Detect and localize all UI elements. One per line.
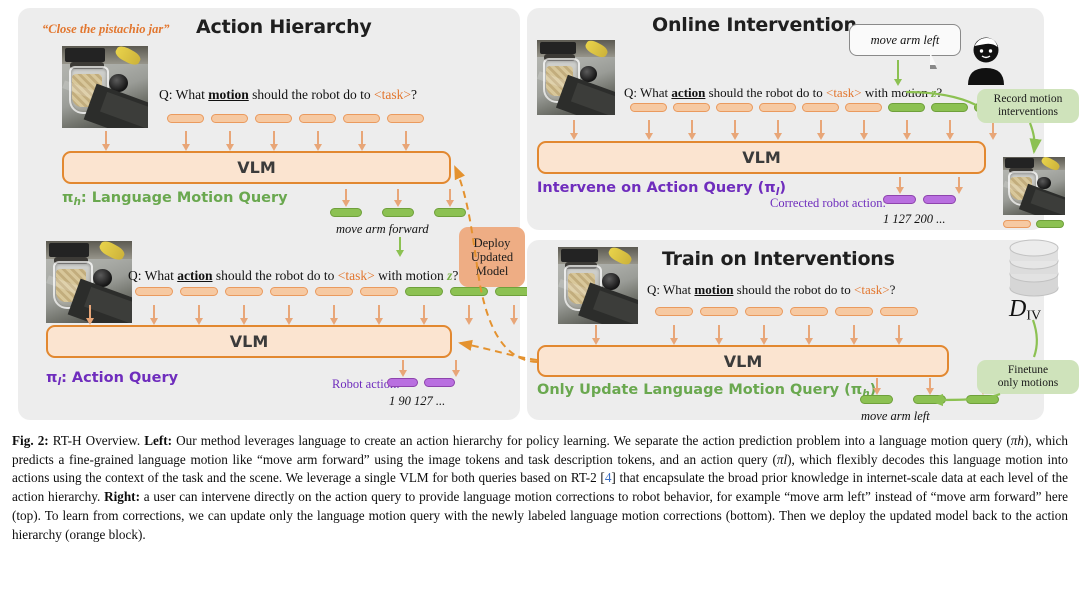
flow-arrow — [225, 305, 263, 325]
flow-arrow — [440, 360, 471, 377]
vlm-block-high: VLM — [62, 151, 451, 184]
query-train: Q: What motion should the robot do to <t… — [647, 282, 895, 298]
token-pill-orange — [180, 287, 218, 296]
query-middle2: with motion — [862, 85, 932, 100]
token-pill-orange — [1003, 220, 1031, 228]
flow-arrow — [845, 120, 882, 140]
token-pill-orange — [802, 103, 839, 112]
query-suffix: ? — [890, 282, 896, 297]
token-pill-purple — [424, 378, 455, 387]
query-task-token: <task> — [338, 268, 375, 283]
query-prefix: Q: What — [647, 282, 694, 297]
token-pill-green — [330, 208, 362, 217]
pi-subscript: h — [73, 196, 80, 208]
token-row-train — [655, 307, 918, 316]
caption-left-bold: Left: — [144, 433, 172, 448]
policy-online-close: ) — [779, 180, 786, 196]
token-pill-green — [931, 103, 968, 112]
motion-output-text: move arm forward — [336, 222, 429, 237]
arrow-row-motion-out — [330, 189, 466, 207]
arrow-row-action-out — [387, 360, 471, 377]
task-quote: “Close the pistachio jar” — [42, 22, 169, 37]
flow-arrow — [835, 325, 873, 345]
caption-pi-l: πl — [777, 452, 787, 467]
arrow-row-low-query — [135, 305, 533, 325]
token-pill-orange — [255, 114, 292, 123]
token-row-task — [167, 114, 424, 123]
flow-arrow — [655, 325, 693, 345]
token-row-motion-train — [860, 395, 999, 404]
flow-arrow — [888, 120, 925, 140]
token-pill-orange — [700, 307, 738, 316]
record-line-2: interventions — [994, 106, 1063, 119]
person-icon — [965, 35, 1007, 85]
figure-caption: Fig. 2: RT-H Overview. Left: Our method … — [12, 432, 1068, 544]
caption-pi-h: πh — [1011, 433, 1024, 448]
caption-right-bold: Right: — [104, 489, 140, 504]
query-task-token: <task> — [854, 282, 890, 297]
token-pill-green — [913, 395, 946, 404]
flow-arrow — [745, 325, 783, 345]
policy-label-online: Intervene on Action Query (πl) — [537, 180, 786, 198]
flow-arrow — [382, 189, 414, 207]
flow-arrow — [931, 120, 968, 140]
query-prefix: Q: What — [159, 87, 208, 102]
token-pill-purple — [387, 378, 418, 387]
dataset-subscript: IV — [1026, 309, 1041, 324]
flow-arrow — [450, 305, 488, 325]
query-keyword: action — [177, 268, 212, 283]
flow-arrow — [387, 360, 418, 377]
token-pill-green — [860, 395, 893, 404]
caption-lead: RT-H Overview. — [49, 433, 145, 448]
flow-arrow — [913, 378, 946, 395]
flow-arrow — [343, 131, 380, 151]
flow-arrow — [270, 305, 308, 325]
database-icon — [1006, 238, 1062, 300]
arrow-row-online — [630, 120, 1011, 140]
flow-arrow — [759, 120, 796, 140]
policy-online-text: Intervene on Action Query (π — [537, 180, 776, 196]
finetune-line-1: Finetune — [998, 364, 1058, 377]
token-pill-orange — [673, 103, 710, 112]
flow-arrow — [255, 131, 292, 151]
token-row-action — [387, 378, 455, 387]
query-suffix: ? — [452, 268, 458, 283]
scene-image-top-left — [62, 46, 148, 128]
arrow-row-corrected — [883, 177, 975, 194]
callout-deploy-updated-model: Deploy Updated Model — [459, 227, 525, 287]
policy-label-high: πh: Language Motion Query — [62, 190, 288, 208]
flow-arrow — [802, 120, 839, 140]
token-pill-orange — [343, 114, 380, 123]
arrow-bubble-to-query — [893, 60, 903, 86]
token-pill-green — [888, 103, 925, 112]
token-pill-orange — [759, 103, 796, 112]
callout-finetune-only-motions: Finetune only motions — [977, 360, 1079, 394]
dataset-symbol: DIV — [1009, 296, 1041, 325]
corrected-tokens-text: 1 127 200 ... — [883, 212, 946, 227]
token-pill-green — [434, 208, 466, 217]
token-pill-orange — [315, 287, 353, 296]
arrow-image-to-vlm-2 — [85, 305, 95, 325]
policy-low-text: : Action Query — [61, 370, 178, 386]
online-intervention-title: Online Intervention — [652, 14, 857, 36]
flow-arrow — [360, 305, 398, 325]
flow-arrow — [700, 325, 738, 345]
query-prefix: Q: What — [128, 268, 177, 283]
query-middle: should the robot do to — [249, 87, 374, 102]
query-keyword: motion — [208, 87, 249, 102]
arrow-image-to-vlm-1 — [101, 131, 111, 151]
corrected-action-label: Corrected robot action: — [770, 196, 886, 211]
token-pill-green — [405, 287, 443, 296]
query-task-token: <task> — [826, 85, 862, 100]
policy-train-text: Only Update Language Motion Query (π — [537, 382, 862, 398]
scene-image-train — [558, 247, 638, 324]
arrow-image-to-vlm-online — [569, 120, 579, 140]
query-suffix: ? — [411, 87, 417, 102]
flow-arrow — [434, 189, 466, 207]
query-high-level: Q: What motion should the robot do to <t… — [159, 87, 417, 103]
arrow-motion-to-query — [395, 237, 405, 257]
flow-arrow — [180, 305, 218, 325]
flow-arrow — [974, 120, 1011, 140]
token-pill-orange — [225, 287, 263, 296]
arrow-row-tokens-1 — [167, 131, 424, 151]
arrow-row-train — [655, 325, 918, 345]
flow-arrow — [790, 325, 828, 345]
token-pill-orange — [835, 307, 873, 316]
dataset-letter: D — [1009, 296, 1026, 322]
policy-label-low: πl: Action Query — [46, 370, 178, 388]
token-pill-green — [382, 208, 414, 217]
scene-image-dataset — [1003, 157, 1065, 215]
token-row-motion — [330, 208, 466, 217]
flow-arrow — [135, 305, 173, 325]
flow-arrow — [673, 120, 710, 140]
token-pill-orange — [270, 287, 308, 296]
query-online: Q: What action should the robot do to <t… — [624, 85, 942, 101]
token-row-dataset-sample — [1003, 220, 1064, 228]
token-pill-orange — [387, 114, 424, 123]
token-pill-orange — [211, 114, 248, 123]
arrow-image-to-vlm-train — [591, 325, 601, 345]
query-middle2: with motion — [375, 268, 447, 283]
flow-arrow — [880, 325, 918, 345]
action-hierarchy-title: Action Hierarchy — [196, 16, 372, 38]
deploy-line-1: Deploy — [471, 236, 513, 250]
flow-arrow — [630, 120, 667, 140]
token-pill-orange — [299, 114, 336, 123]
vlm-block-train: VLM — [537, 345, 949, 377]
flow-arrow — [942, 177, 975, 194]
deploy-line-3: Model — [471, 264, 513, 278]
flow-arrow — [167, 131, 204, 151]
scene-image-online — [537, 40, 615, 115]
query-prefix: Q: What — [624, 85, 671, 100]
token-pill-green — [450, 287, 488, 296]
caption-label: Fig. 2: — [12, 433, 49, 448]
flow-arrow — [387, 131, 424, 151]
flow-arrow — [883, 177, 916, 194]
token-pill-purple — [923, 195, 956, 204]
flow-arrow — [405, 305, 443, 325]
token-pill-orange — [167, 114, 204, 123]
flow-arrow — [716, 120, 753, 140]
speech-bubble-tail-fill — [930, 52, 948, 65]
query-middle: should the robot do to — [705, 85, 826, 100]
token-pill-orange — [845, 103, 882, 112]
finetune-line-2: only motions — [998, 377, 1058, 390]
record-line-1: Record motion — [994, 93, 1063, 106]
query-task-token: <task> — [374, 87, 411, 102]
token-pill-green — [966, 395, 999, 404]
token-pill-orange — [135, 287, 173, 296]
query-keyword: motion — [694, 282, 733, 297]
policy-label-train: Only Update Language Motion Query (πh) — [537, 382, 876, 400]
figure-canvas: Action Hierarchy “Close the pistachio ja… — [0, 0, 1080, 430]
caption-part5: a user can intervene directly on the act… — [12, 489, 1068, 541]
token-pill-purple — [883, 195, 916, 204]
vlm-block-low: VLM — [46, 325, 452, 358]
flow-arrow — [860, 378, 893, 395]
token-row-corrected — [883, 195, 956, 204]
flow-arrow — [330, 189, 362, 207]
query-low-level: Q: What action should the robot do to <t… — [128, 268, 458, 284]
flow-arrow — [299, 131, 336, 151]
policy-high-text: : Language Motion Query — [81, 190, 288, 206]
callout-record-interventions: Record motion interventions — [977, 89, 1079, 123]
token-row-online — [630, 103, 1011, 112]
token-pill-orange — [790, 307, 828, 316]
deploy-line-2: Updated — [471, 250, 513, 264]
token-pill-orange — [655, 307, 693, 316]
flow-arrow — [211, 131, 248, 151]
caption-part1: Our method leverages language to create … — [172, 433, 1011, 448]
query-keyword: action — [671, 85, 705, 100]
token-pill-orange — [630, 103, 667, 112]
query-middle: should the robot do to — [733, 282, 854, 297]
vlm-block-online: VLM — [537, 141, 986, 174]
motion-output-train: move arm left — [861, 409, 930, 424]
token-pill-green — [1036, 220, 1064, 228]
flow-arrow — [315, 305, 353, 325]
train-on-interventions-title: Train on Interventions — [662, 248, 895, 270]
token-pill-orange — [360, 287, 398, 296]
token-pill-orange — [745, 307, 783, 316]
action-tokens-text: 1 90 127 ... — [389, 394, 445, 409]
token-pill-orange — [880, 307, 918, 316]
pi-symbol: π — [62, 190, 73, 206]
token-row-low-query — [135, 287, 533, 296]
token-pill-orange — [716, 103, 753, 112]
query-middle: should the robot do to — [213, 268, 338, 283]
query-suffix: ? — [936, 85, 942, 100]
pi-symbol: π — [46, 370, 57, 386]
